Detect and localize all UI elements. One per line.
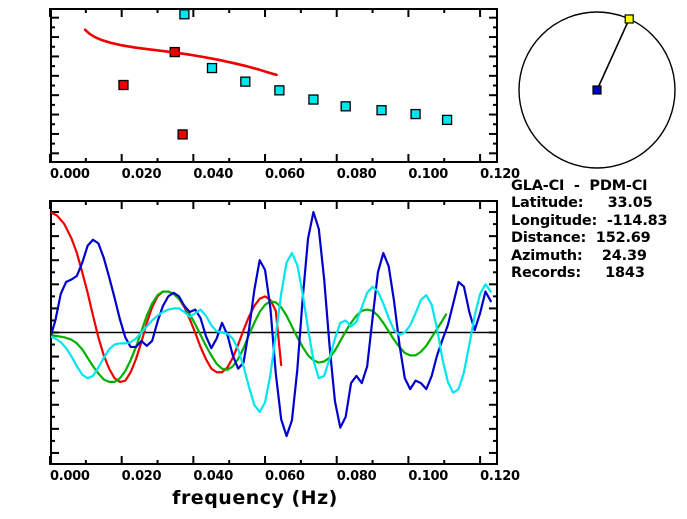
station-pair-title: GLA-CI - PDM-CI <box>511 178 687 195</box>
dial-center-marker <box>593 86 601 94</box>
dial-station-marker <box>625 15 633 23</box>
info-row: Distance: 152.69 <box>511 230 687 247</box>
info-row: Azimuth: 24.39 <box>511 248 687 265</box>
info-row: Latitude: 33.05 <box>511 195 687 212</box>
dispersion-plot-frame <box>50 8 498 163</box>
info-row: Records: 1843 <box>511 265 687 282</box>
dial-azimuth-line <box>597 19 629 90</box>
station-pair-info: GLA-CI - PDM-CILatitude: 33.05Longitude:… <box>511 178 687 282</box>
azimuth-dial <box>511 2 687 174</box>
x-axis-title: frequency (Hz) <box>0 487 510 509</box>
spectra-plot-frame <box>50 200 498 465</box>
info-row: Longitude: -114.83 <box>511 213 687 230</box>
